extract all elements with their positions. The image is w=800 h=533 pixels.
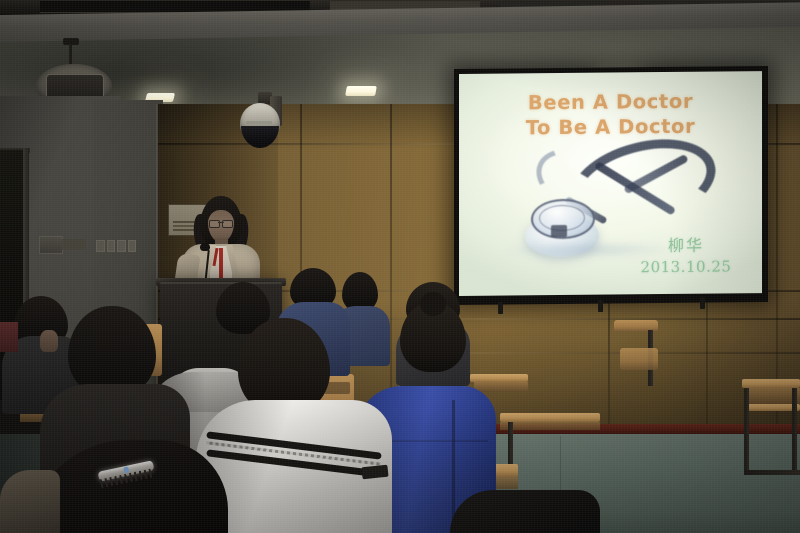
wooden-chair [620, 348, 658, 370]
glasses-icon [209, 220, 233, 226]
desk-edge [500, 422, 600, 430]
student-desk [742, 379, 800, 388]
screen-bracket [700, 297, 705, 309]
student-desk [500, 413, 600, 422]
desk-leg [744, 388, 749, 474]
recessed-ceiling-light [345, 86, 377, 96]
wall-plaque-secondary [62, 239, 86, 250]
desk-foot [744, 470, 800, 475]
slide-author-block: 柳华 2013.10.25 [636, 231, 736, 276]
desk-leg [792, 388, 797, 472]
lecture-hall-photo: Been A Doctor To Be A Doctor 柳华 2013.10.… [0, 0, 800, 533]
wall-plaque [39, 236, 63, 254]
screen-bracket [498, 302, 503, 314]
audience-shoulder [0, 470, 60, 533]
audience-garment-red [0, 322, 18, 352]
screen-bracket [598, 300, 603, 312]
desk-shelf [474, 382, 528, 392]
student-desk [470, 374, 528, 382]
stethoscope-stem-joint [551, 225, 567, 237]
camera-label-strip [246, 121, 272, 124]
slide-title-line-2: To Be A Doctor [459, 114, 762, 141]
slide-title-line-1: Been A Doctor [459, 89, 762, 116]
audience-shoulder [450, 490, 600, 533]
audience-head [68, 306, 156, 396]
audience-hand [40, 330, 58, 352]
slide-date: 2013.10.25 [636, 257, 736, 276]
slide-author-name: 柳华 [636, 231, 736, 256]
wall-sockets[interactable] [96, 240, 136, 252]
microphone-icon [200, 243, 210, 251]
projection-screen: Been A Doctor To Be A Doctor 柳华 2013.10.… [459, 71, 762, 296]
slide-title: Been A Doctor To Be A Doctor [459, 89, 762, 141]
audience-hair-bun [420, 292, 446, 316]
